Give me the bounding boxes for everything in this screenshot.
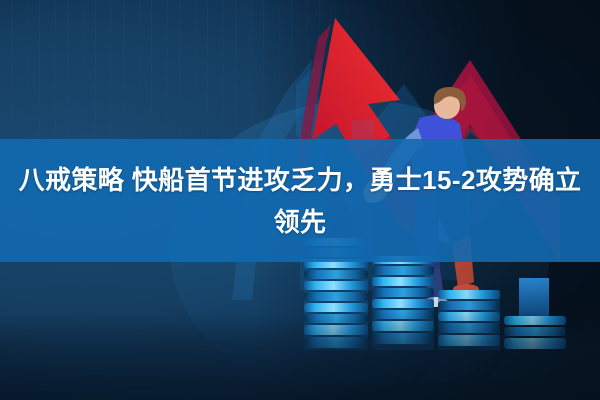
headline-block: 八戒策略 快船首节进攻乏力，勇士15-2攻势确立领先 — [0, 139, 600, 262]
headline-text: 八戒策略 快船首节进攻乏力，勇士15-2攻势确立领先 — [14, 159, 586, 243]
thumbnail-canvas: 八戒策略 快船首节进攻乏力，勇士15-2攻势确立领先 — [0, 0, 600, 400]
